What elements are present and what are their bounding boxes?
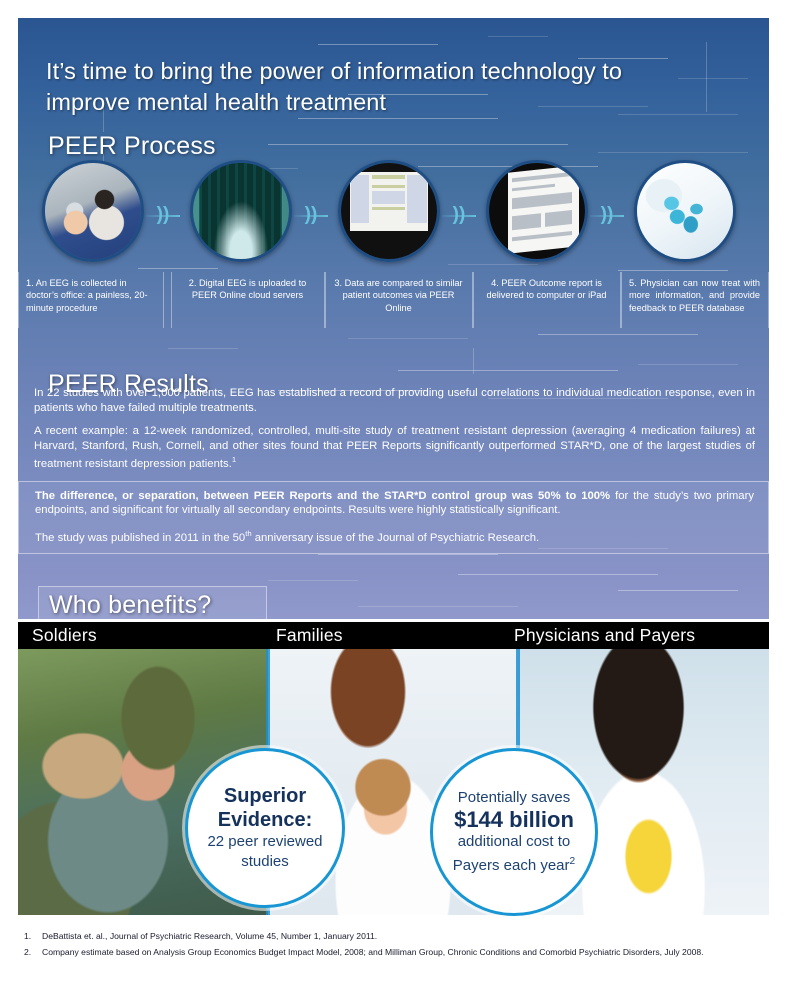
callout-evidence-line4: studies bbox=[241, 852, 289, 872]
results-highlight-bold: The difference, or separation, between P… bbox=[35, 490, 610, 502]
infographic-page: It’s time to bring the power of informat… bbox=[0, 0, 787, 992]
callout-evidence-line1: Superior bbox=[224, 784, 306, 808]
banner-label-families: Families bbox=[276, 624, 343, 647]
footnote-ref-2: 2 bbox=[570, 856, 576, 867]
callout-superior-evidence: Superior Evidence: 22 peer reviewed stud… bbox=[185, 748, 345, 908]
step-text: Digital EEG is uploaded to PEER Online c… bbox=[192, 278, 306, 300]
banner-label-soldiers: Soldiers bbox=[32, 624, 97, 647]
page-headline: It’s time to bring the power of informat… bbox=[46, 56, 706, 118]
footnote-text: DeBattista et. al., Journal of Psychiatr… bbox=[42, 930, 769, 943]
callout-potential-savings: Potentially saves $144 billion additiona… bbox=[430, 748, 598, 916]
process-connector-1: )) bbox=[146, 204, 180, 226]
callout-savings-amount: $144 billion bbox=[454, 808, 574, 832]
footnote-number: 1. bbox=[18, 930, 42, 943]
results-paragraph-2: A recent example: a 12-week randomized, … bbox=[18, 424, 769, 472]
process-step-5-caption: 5. Physician can now treat with more inf… bbox=[621, 272, 769, 328]
footnotes-list: 1. DeBattista et. al., Journal of Psychi… bbox=[18, 930, 769, 962]
results-paragraph-2-text: A recent example: a 12-week randomized, … bbox=[34, 425, 755, 470]
step-text: An EEG is collected in doctor’s office: … bbox=[26, 278, 148, 313]
footnote-item: 1. DeBattista et. al., Journal of Psychi… bbox=[18, 930, 769, 943]
process-step-4-caption: 4. PEER Outcome report is delivered to c… bbox=[473, 272, 621, 328]
process-step-3-image bbox=[338, 160, 440, 262]
results-paragraph-1: In 22 studies with over 1,000 patients, … bbox=[18, 386, 769, 415]
peer-results-text: In 22 studies with over 1,000 patients, … bbox=[18, 386, 769, 554]
step-number: 4. bbox=[491, 278, 499, 288]
step-text: PEER Outcome report is delivered to comp… bbox=[486, 278, 606, 300]
callout-evidence-line3: 22 peer reviewed bbox=[207, 832, 322, 852]
benefits-photo-band bbox=[18, 649, 769, 915]
process-step-5-image bbox=[634, 160, 736, 262]
footnote-number: 2. bbox=[18, 946, 42, 959]
step-text: Data are compared to similar patient out… bbox=[343, 278, 463, 313]
callout-savings-line4: Payers each year2 bbox=[453, 852, 575, 876]
section-heading-who-benefits: Who benefits? bbox=[38, 586, 267, 619]
process-step-captions: 1. An EEG is collected in doctor’s offic… bbox=[18, 272, 769, 330]
callout-savings-line4-text: Payers each year bbox=[453, 857, 570, 874]
step-text: Physician can now treat with more inform… bbox=[629, 278, 760, 313]
results-highlight-box: The difference, or separation, between P… bbox=[18, 481, 769, 555]
callout-evidence-line2: Evidence: bbox=[218, 808, 312, 832]
process-step-2-caption: 2. Digital EEG is uploaded to PEER Onlin… bbox=[171, 272, 325, 328]
step-number: 3. bbox=[334, 278, 342, 288]
peer-process-diagram: )) )) )) bbox=[18, 160, 769, 270]
process-step-3-caption: 3. Data are compared to similar patient … bbox=[325, 272, 473, 328]
step-number: 5. bbox=[629, 278, 637, 288]
who-benefits-banner: Soldiers Families Physicians and Payers bbox=[18, 622, 769, 649]
banner-label-physicians-and-payers: Physicians and Payers bbox=[514, 624, 695, 647]
process-step-2-image bbox=[190, 160, 292, 262]
process-step-4-image bbox=[486, 160, 588, 262]
publication-text-b: anniversary issue of the Journal of Psyc… bbox=[252, 532, 540, 544]
results-highlight-paragraph: The difference, or separation, between P… bbox=[19, 489, 768, 518]
process-connector-4: )) bbox=[590, 204, 624, 226]
process-connector-2: )) bbox=[294, 204, 328, 226]
footnote-text: Company estimate based on Analysis Group… bbox=[42, 946, 769, 959]
process-connector-3: )) bbox=[442, 204, 476, 226]
step-number: 1. bbox=[26, 278, 34, 288]
step-number: 2. bbox=[189, 278, 197, 288]
process-step-1-caption: 1. An EEG is collected in doctor’s offic… bbox=[18, 272, 164, 328]
callout-savings-line1: Potentially saves bbox=[458, 788, 571, 808]
publication-text-a: The study was published in 2011 in the 5… bbox=[35, 532, 245, 544]
process-step-1-image bbox=[42, 160, 144, 262]
results-publication-line: The study was published in 2011 in the 5… bbox=[19, 527, 768, 545]
callout-savings-line3: additional cost to bbox=[458, 832, 571, 852]
footnote-item: 2. Company estimate based on Analysis Gr… bbox=[18, 946, 769, 959]
footnote-ref-1: 1 bbox=[232, 455, 236, 464]
